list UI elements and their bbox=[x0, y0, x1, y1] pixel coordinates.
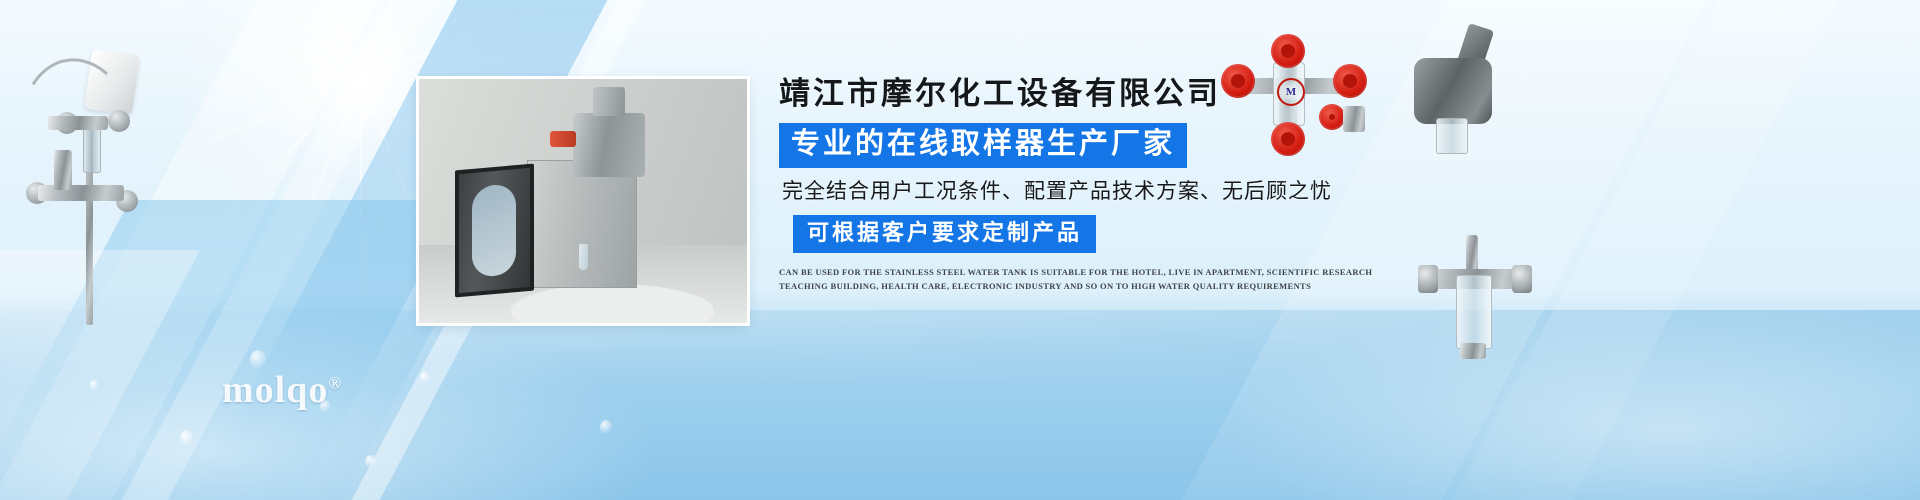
english-description: CAN BE USED FOR THE STAINLESS STEEL WATE… bbox=[779, 265, 1389, 293]
water-droplet bbox=[365, 455, 376, 469]
sub-description: 完全结合用户工况条件、配置产品技术方案、无后顾之忧 bbox=[779, 181, 1439, 202]
pipe-flange bbox=[108, 110, 130, 132]
glow-ellipse-right bbox=[1220, 300, 1920, 500]
banner-text-block: 靖江市摩尔化工设备有限公司 专业的在线取样器生产厂家 完全结合用户工况条件、配置… bbox=[779, 78, 1439, 293]
product-photo bbox=[419, 79, 747, 323]
sample-bottle bbox=[579, 244, 588, 269]
sampler-valve-head bbox=[573, 113, 645, 176]
water-droplet bbox=[250, 350, 266, 370]
door-window bbox=[472, 183, 516, 278]
tagline-badge: 专业的在线取样器生产厂家 bbox=[779, 123, 1187, 168]
watermark-text: molqo bbox=[222, 369, 328, 411]
relief-valve bbox=[54, 150, 72, 190]
promo-banner: 靖江市摩尔化工设备有限公司 专业的在线取样器生产厂家 完全结合用户工况条件、配置… bbox=[0, 0, 1920, 500]
sight-glass bbox=[1456, 275, 1492, 349]
sampler-cabinet bbox=[527, 160, 637, 289]
left-equipment-image bbox=[8, 30, 178, 320]
sample-glass bbox=[1436, 118, 1468, 154]
water-droplet bbox=[600, 420, 612, 435]
watermark-logo: molqo® bbox=[222, 368, 342, 412]
valve-body bbox=[38, 185, 124, 201]
registered-mark-icon: ® bbox=[328, 373, 342, 392]
cabinet-door bbox=[455, 163, 534, 297]
water-droplet bbox=[90, 380, 98, 391]
sight-tube bbox=[83, 125, 101, 173]
valve-body bbox=[48, 116, 108, 130]
water-droplet bbox=[420, 372, 429, 384]
water-droplet bbox=[180, 430, 193, 447]
drain-outlet bbox=[1460, 343, 1486, 359]
company-name: 靖江市摩尔化工设备有限公司 bbox=[779, 78, 1439, 109]
custom-product-badge: 可根据客户要求定制产品 bbox=[793, 215, 1096, 253]
pipe-flange bbox=[1512, 265, 1532, 293]
handwheel-icon bbox=[1271, 34, 1305, 68]
